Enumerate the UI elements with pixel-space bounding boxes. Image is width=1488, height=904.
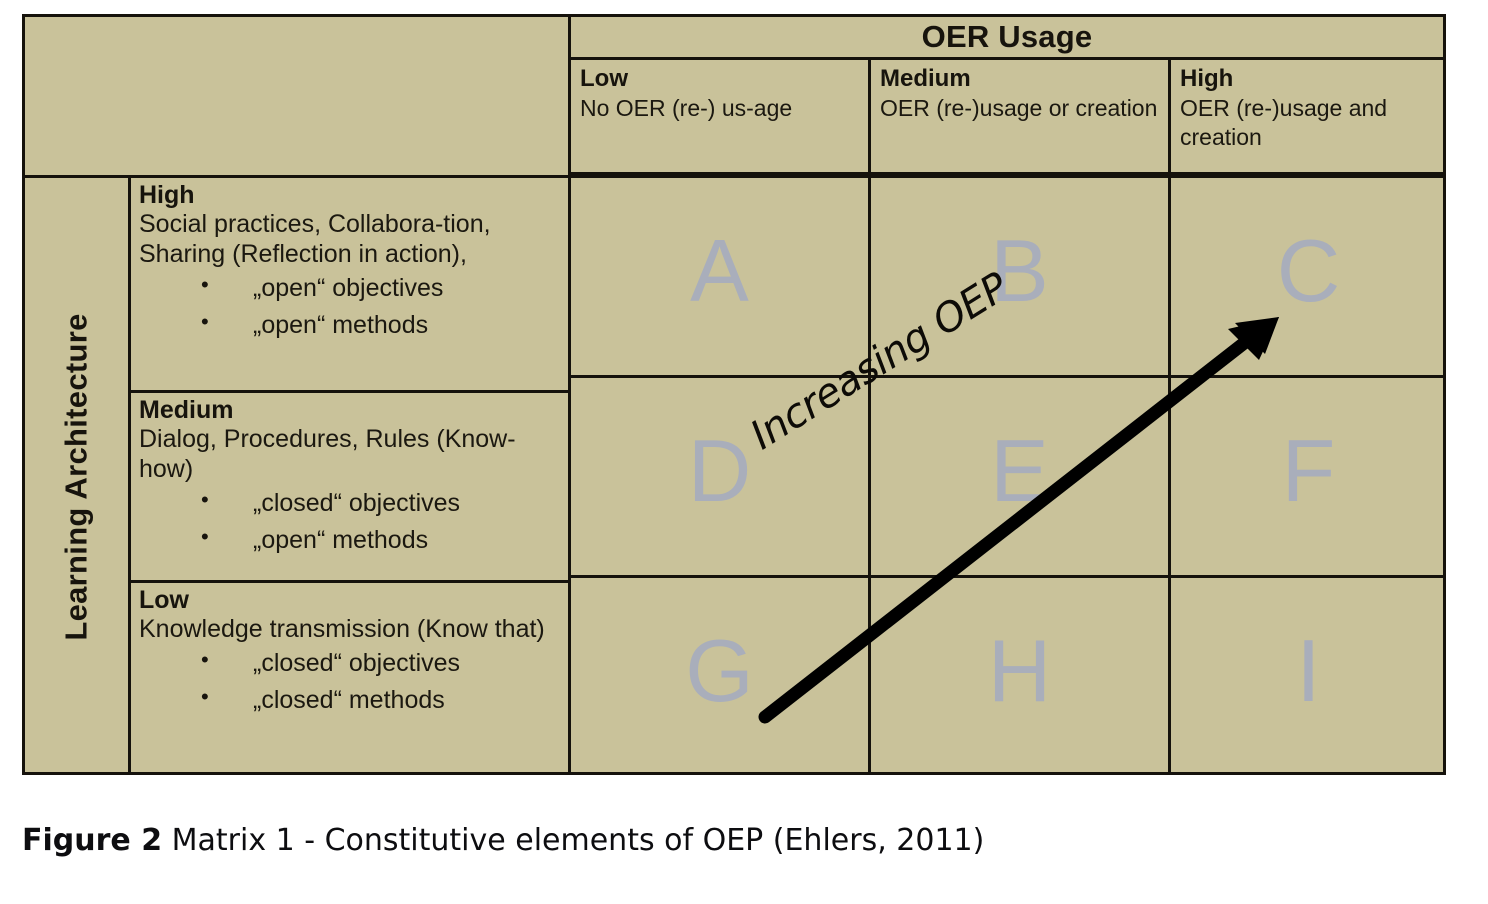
list-item: „closed“ methods bbox=[201, 682, 562, 719]
row-header-low-description: Knowledge transmission (Know that) bbox=[139, 614, 562, 644]
figure-caption: Figure 2 Matrix 1 - Constitutive element… bbox=[22, 823, 984, 858]
row-header-medium: Medium Dialog, Procedures, Rules (Know-h… bbox=[131, 390, 568, 580]
row-axis-label: Learning Architecture bbox=[25, 175, 128, 775]
row-header-low-bullets: „closed“ objectives „closed“ methods bbox=[139, 645, 562, 719]
list-item: „closed“ objectives bbox=[201, 645, 562, 682]
figure-caption-number: Figure 2 bbox=[22, 823, 162, 858]
matrix-cell-h-letter: H bbox=[988, 627, 1052, 715]
list-item: „open“ objectives bbox=[201, 270, 562, 307]
column-header-low: Low No OER (re-) us-age bbox=[568, 60, 868, 175]
figure-page: OER Usage Low No OER (re-) us-age Medium… bbox=[0, 0, 1488, 904]
column-header-high-level: High bbox=[1180, 65, 1438, 93]
row-header-medium-level: Medium bbox=[139, 396, 562, 424]
column-header-high: High OER (re-)usage and creation bbox=[1168, 60, 1446, 175]
matrix-cell-c-letter: C bbox=[1277, 227, 1341, 315]
column-axis-title: OER Usage bbox=[568, 17, 1446, 60]
column-header-medium: Medium OER (re-)usage or creation bbox=[868, 60, 1168, 175]
row-header-medium-description: Dialog, Procedures, Rules (Know-how) bbox=[139, 424, 562, 484]
column-header-low-description: No OER (re-) us-age bbox=[580, 94, 860, 122]
list-item: „closed“ objectives bbox=[201, 485, 562, 522]
matrix-cell-e-letter: E bbox=[990, 427, 1049, 515]
matrix-cell-b-letter: B bbox=[990, 227, 1049, 315]
header-left-divider bbox=[568, 17, 571, 60]
row-header-high: High Social practices, Collabora-tion, S… bbox=[131, 175, 568, 390]
row-header-low-level: Low bbox=[139, 586, 562, 614]
matrix-cell-i: I bbox=[1168, 575, 1446, 775]
row-header-medium-bullets: „closed“ objectives „open“ methods bbox=[139, 485, 562, 559]
matrix-cell-g: G bbox=[568, 575, 868, 775]
matrix-cell-g-letter: G bbox=[685, 627, 753, 715]
matrix-cell-b: B bbox=[868, 175, 1168, 375]
matrix-cell-f: F bbox=[1168, 375, 1446, 575]
column-header-medium-description: OER (re-)usage or creation bbox=[880, 94, 1160, 122]
matrix-cell-d-letter: D bbox=[688, 427, 752, 515]
matrix-cell-f-letter: F bbox=[1282, 427, 1336, 515]
matrix-grid: A B C D E F G H I bbox=[568, 175, 1446, 775]
column-header-medium-level: Medium bbox=[880, 65, 1160, 93]
matrix-cell-c: C bbox=[1168, 175, 1446, 375]
oep-matrix-table: OER Usage Low No OER (re-) us-age Medium… bbox=[22, 14, 1446, 775]
list-item: „open“ methods bbox=[201, 522, 562, 559]
row-header-high-bullets: „open“ objectives „open“ methods bbox=[139, 270, 562, 344]
column-header-high-description: OER (re-)usage and creation bbox=[1180, 94, 1438, 151]
row-header-high-description: Social practices, Collabora-tion, Sharin… bbox=[139, 209, 562, 269]
list-item: „open“ methods bbox=[201, 307, 562, 344]
column-header-low-level: Low bbox=[580, 65, 860, 93]
row-header-high-level: High bbox=[139, 181, 562, 209]
figure-caption-text: Matrix 1 - Constitutive elements of OEP … bbox=[162, 823, 984, 858]
row-header-low: Low Knowledge transmission (Know that) „… bbox=[131, 580, 568, 775]
matrix-cell-a: A bbox=[568, 175, 868, 375]
matrix-cell-d: D bbox=[568, 375, 868, 575]
matrix-cell-e: E bbox=[868, 375, 1168, 575]
matrix-cell-a-letter: A bbox=[690, 227, 749, 315]
matrix-cell-i-letter: I bbox=[1296, 627, 1320, 715]
matrix-cell-h: H bbox=[868, 575, 1168, 775]
row-axis-label-text: Learning Architecture bbox=[59, 313, 95, 640]
